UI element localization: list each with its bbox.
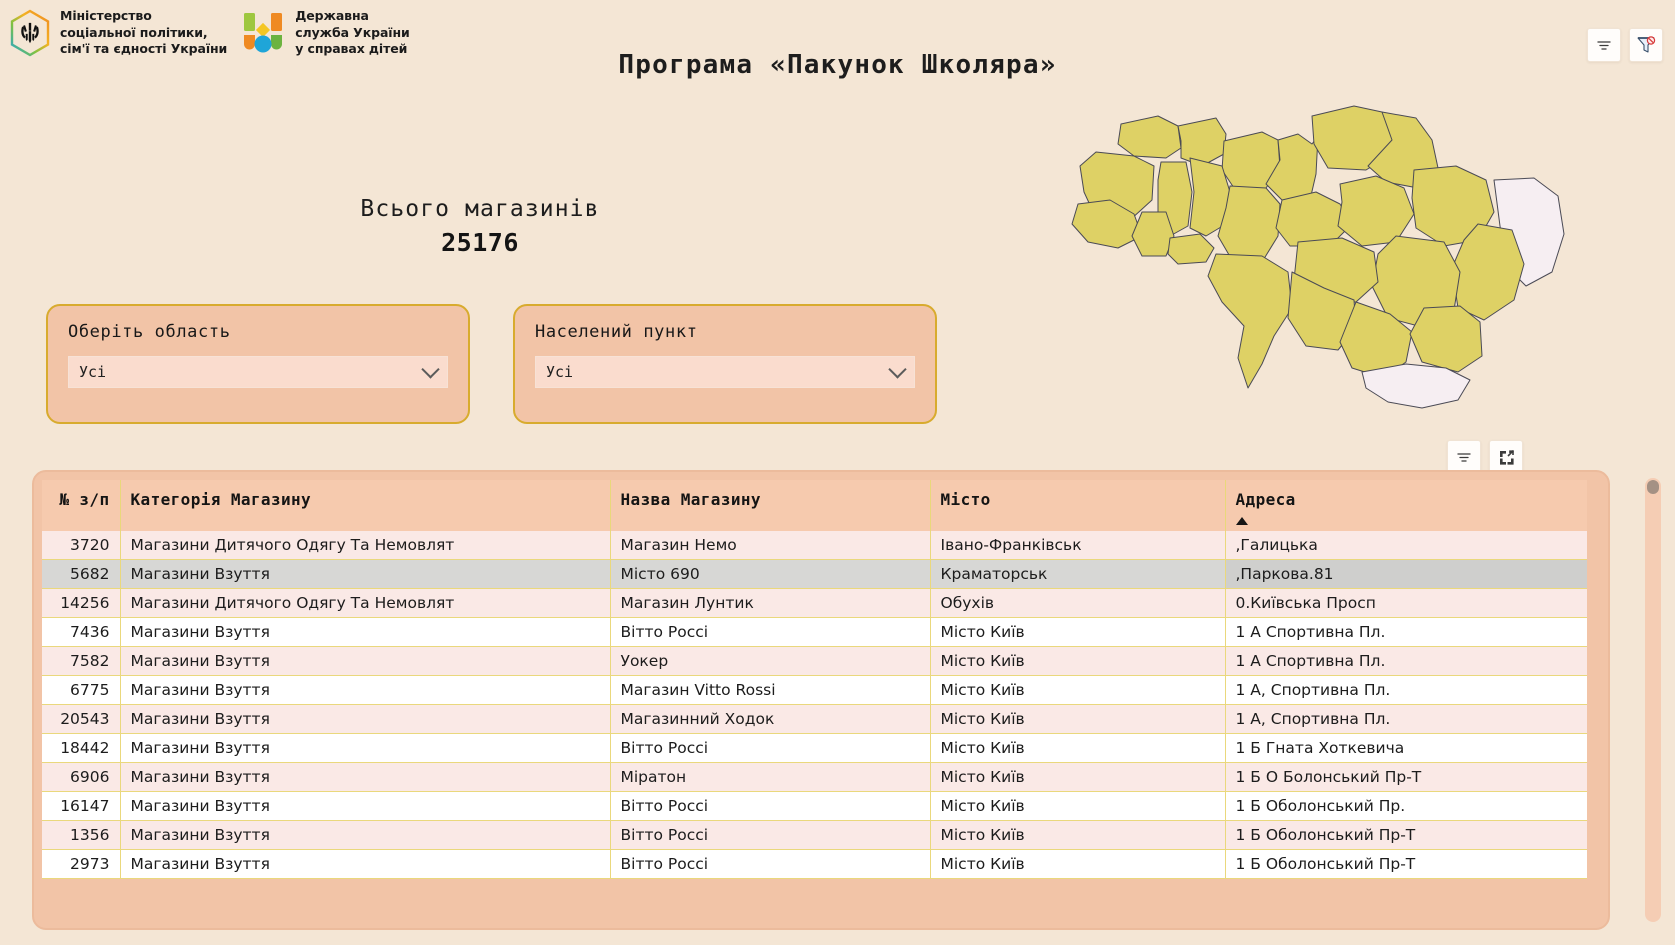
cell-addr: 1 Б Оболонський Пр. bbox=[1225, 792, 1587, 821]
cell-city: Місто Київ bbox=[930, 676, 1225, 705]
cell-addr: ,Галицька bbox=[1225, 531, 1587, 560]
cell-num: 5682 bbox=[42, 560, 120, 589]
table-focus-button[interactable] bbox=[1489, 440, 1523, 474]
table-header: № з/п Категорія Магазину Назва Магазину … bbox=[42, 480, 1587, 531]
cell-city: Місто Київ bbox=[930, 821, 1225, 850]
cell-addr: 1 А Спортивна Пл. bbox=[1225, 647, 1587, 676]
cell-city: Місто Київ bbox=[930, 850, 1225, 879]
table-row[interactable]: 7582Магазини ВзуттяУокерМісто Київ1 А Сп… bbox=[42, 647, 1587, 676]
cell-num: 2973 bbox=[42, 850, 120, 879]
map-region-zaporizhzh[interactable] bbox=[1410, 306, 1482, 372]
filter-lines-icon bbox=[1595, 36, 1613, 54]
cell-cat: Магазини Взуття bbox=[120, 647, 610, 676]
cell-city: Місто Київ bbox=[930, 763, 1225, 792]
cell-addr: 1 А, Спортивна Пл. bbox=[1225, 705, 1587, 734]
table-row[interactable]: 14256Магазини Дитячого Одягу Та Немовлят… bbox=[42, 589, 1587, 618]
table-toolbar bbox=[1447, 440, 1523, 474]
cell-name: Вітто Россі bbox=[610, 850, 930, 879]
total-stores-kpi: Всього магазинів 25176 bbox=[190, 196, 770, 257]
table-row[interactable]: 3720Магазини Дитячого Одягу Та НемовлятМ… bbox=[42, 531, 1587, 560]
map-region-odesa[interactable] bbox=[1208, 254, 1292, 388]
cell-num: 7436 bbox=[42, 618, 120, 647]
col-header-num[interactable]: № з/п bbox=[42, 480, 120, 531]
cell-city: Місто Київ bbox=[930, 734, 1225, 763]
table-row[interactable]: 18442Магазини ВзуттяВітто РоссіМісто Киї… bbox=[42, 734, 1587, 763]
cell-name: Вітто Россі bbox=[610, 734, 930, 763]
cell-city: Місто Київ bbox=[930, 618, 1225, 647]
table-scrollbar-thumb[interactable] bbox=[1647, 480, 1659, 494]
table-filter-button[interactable] bbox=[1447, 440, 1481, 474]
cell-cat: Магазини Дитячого Одягу Та Немовлят bbox=[120, 531, 610, 560]
cell-cat: Магазини Дитячого Одягу Та Немовлят bbox=[120, 589, 610, 618]
cell-num: 18442 bbox=[42, 734, 120, 763]
cell-num: 1356 bbox=[42, 821, 120, 850]
cell-num: 7582 bbox=[42, 647, 120, 676]
cell-name: Магазин Vitto Rossi bbox=[610, 676, 930, 705]
cell-num: 6906 bbox=[42, 763, 120, 792]
slicer-oblast: Оберіть область Усі bbox=[46, 304, 470, 424]
cell-cat: Магазини Взуття bbox=[120, 821, 610, 850]
cell-city: Місто Київ bbox=[930, 647, 1225, 676]
chevron-down-icon bbox=[421, 360, 439, 378]
stores-table-card: № з/п Категорія Магазину Назва Магазину … bbox=[32, 470, 1610, 930]
slicer-town-value: Усі bbox=[546, 363, 573, 381]
cell-addr: 1 Б Оболонський Пр-Т bbox=[1225, 850, 1587, 879]
table-row[interactable]: 1356Магазини ВзуттяВітто РоссіМісто Київ… bbox=[42, 821, 1587, 850]
cell-name: Вітто Россі bbox=[610, 792, 930, 821]
cell-addr: 1 Б Гната Хоткевича bbox=[1225, 734, 1587, 763]
cell-city: Обухів bbox=[930, 589, 1225, 618]
cell-cat: Магазини Взуття bbox=[120, 618, 610, 647]
cell-city: Місто Київ bbox=[930, 792, 1225, 821]
map-region-ivano-fr[interactable] bbox=[1132, 212, 1174, 256]
dashboard-page: Міністерство соціальної політики, сім'ї … bbox=[0, 0, 1675, 945]
map-region-rivne[interactable] bbox=[1178, 118, 1226, 166]
chevron-down-icon bbox=[888, 360, 906, 378]
table-row[interactable]: 7436Магазини ВзуттяВітто РоссіМісто Київ… bbox=[42, 618, 1587, 647]
cell-name: Магазин Лунтик bbox=[610, 589, 930, 618]
col-label-category: Категорія Магазину bbox=[131, 490, 312, 509]
cell-city: Місто Київ bbox=[930, 705, 1225, 734]
table-header-row: № з/п Категорія Магазину Назва Магазину … bbox=[42, 480, 1587, 531]
cell-num: 20543 bbox=[42, 705, 120, 734]
slicer-town: Населений пункт Усі bbox=[513, 304, 937, 424]
cell-cat: Магазини Взуття bbox=[120, 763, 610, 792]
cell-cat: Магазини Взуття bbox=[120, 734, 610, 763]
clear-filter-button[interactable] bbox=[1629, 28, 1663, 62]
cell-cat: Магазини Взуття bbox=[120, 792, 610, 821]
slicer-town-select[interactable]: Усі bbox=[535, 356, 915, 388]
cell-name: Вітто Россі bbox=[610, 821, 930, 850]
slicer-oblast-title: Оберіть область bbox=[68, 322, 448, 342]
cell-city: Краматорськ bbox=[930, 560, 1225, 589]
col-label-name: Назва Магазину bbox=[621, 490, 761, 509]
cell-addr: ,Паркова.81 bbox=[1225, 560, 1587, 589]
cell-name: Уокер bbox=[610, 647, 930, 676]
map-region-poltava[interactable] bbox=[1338, 176, 1414, 246]
cell-num: 6775 bbox=[42, 676, 120, 705]
cell-name: Магазинний Ходок bbox=[610, 705, 930, 734]
col-header-name[interactable]: Назва Магазину bbox=[610, 480, 930, 531]
header-toolbar bbox=[1587, 28, 1663, 62]
col-label-city: Місто bbox=[941, 490, 991, 509]
filter-lines-icon bbox=[1455, 448, 1473, 466]
cell-name: Магазин Немо bbox=[610, 531, 930, 560]
cell-name: Вітто Россі bbox=[610, 618, 930, 647]
table-row[interactable]: 2973Магазини ВзуттяВітто РоссіМісто Київ… bbox=[42, 850, 1587, 879]
map-region-volyn[interactable] bbox=[1118, 116, 1181, 158]
clear-funnel-filter-icon bbox=[1635, 34, 1657, 56]
cell-cat: Магазини Взуття bbox=[120, 705, 610, 734]
table-row[interactable]: 20543Магазини ВзуттяМагазинний ХодокМіст… bbox=[42, 705, 1587, 734]
page-title: Програма «Пакунок Школяра» bbox=[0, 50, 1675, 80]
slicer-town-title: Населений пункт bbox=[535, 322, 915, 342]
col-label-num: № з/п bbox=[59, 490, 109, 509]
col-header-city[interactable]: Місто bbox=[930, 480, 1225, 531]
cell-city: Івано-Франківськ bbox=[930, 531, 1225, 560]
stores-table: № з/п Категорія Магазину Назва Магазину … bbox=[42, 480, 1587, 879]
table-vertical-scrollbar[interactable] bbox=[1645, 478, 1661, 922]
cell-num: 3720 bbox=[42, 531, 120, 560]
kpi-label: Всього магазинів bbox=[190, 196, 770, 222]
col-header-category[interactable]: Категорія Магазину bbox=[120, 480, 610, 531]
table-row[interactable]: 6906Магазини ВзуттяМіратонМісто Київ1 Б … bbox=[42, 763, 1587, 792]
table-row[interactable]: 6775Магазини ВзуттяМагазин Vitto RossiМі… bbox=[42, 676, 1587, 705]
filter-button[interactable] bbox=[1587, 28, 1621, 62]
slicer-oblast-value: Усі bbox=[79, 363, 106, 381]
cell-cat: Магазини Взуття bbox=[120, 850, 610, 879]
kpi-value: 25176 bbox=[190, 228, 770, 257]
cell-name: Міратон bbox=[610, 763, 930, 792]
sort-ascending-icon bbox=[1236, 517, 1248, 525]
cell-addr: 1 А Спортивна Пл. bbox=[1225, 618, 1587, 647]
cell-addr: 0.Київська Просп bbox=[1225, 589, 1587, 618]
cell-num: 16147 bbox=[42, 792, 120, 821]
cell-cat: Магазини Взуття bbox=[120, 676, 610, 705]
cell-num: 14256 bbox=[42, 589, 120, 618]
ukraine-map[interactable] bbox=[1066, 96, 1586, 416]
col-label-address: Адреса bbox=[1236, 490, 1296, 509]
cell-name: Місто 690 bbox=[610, 560, 930, 589]
cell-addr: 1 Б Оболонський Пр-Т bbox=[1225, 821, 1587, 850]
cell-addr: 1 А, Спортивна Пл. bbox=[1225, 676, 1587, 705]
cell-cat: Магазини Взуття bbox=[120, 560, 610, 589]
table-body: 3720Магазини Дитячого Одягу Та НемовлятМ… bbox=[42, 531, 1587, 879]
map-region-chernivtsi[interactable] bbox=[1168, 234, 1214, 264]
slicer-oblast-select[interactable]: Усі bbox=[68, 356, 448, 388]
table-row[interactable]: 5682Магазини ВзуттяМісто 690Краматорськ,… bbox=[42, 560, 1587, 589]
table-row[interactable]: 16147Магазини ВзуттяВітто РоссіМісто Киї… bbox=[42, 792, 1587, 821]
focus-expand-icon bbox=[1497, 448, 1516, 467]
ukraine-map-svg bbox=[1066, 96, 1586, 416]
cell-addr: 1 Б О Болонський Пр-Т bbox=[1225, 763, 1587, 792]
col-header-address[interactable]: Адреса bbox=[1225, 480, 1587, 531]
